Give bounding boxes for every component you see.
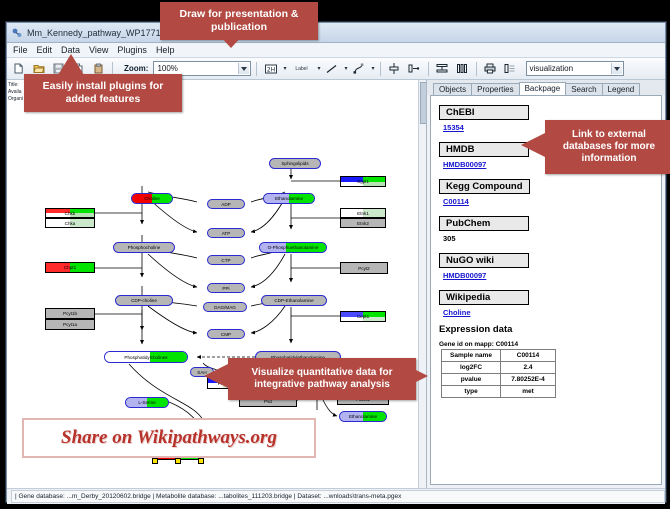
callout-links-text: Link to external databases for more info… — [551, 129, 667, 165]
svg-text:2H: 2H — [267, 66, 275, 73]
statusbar-inner: | Gene database: ...m_Derby_20120602.bri… — [11, 490, 665, 503]
node-label: ADP — [221, 202, 230, 207]
callout-plugins: Easily install plugins for added feature… — [24, 74, 182, 112]
window-titlebar: Mm_Kennedy_pathway_WP1771_45176.gpml — [7, 23, 665, 43]
metabolite-node[interactable]: PPi — [207, 283, 245, 293]
gene-id-line: Gene id on mapp: C00114 — [439, 341, 661, 348]
expression-table: Sample name C00114 log2FC 2.4 pvalue 7.8… — [441, 349, 556, 398]
database-link-kegg[interactable]: C00114 — [443, 197, 661, 206]
expr-key: Sample name — [442, 350, 501, 362]
database-name-nugo: NuGO wiki — [439, 253, 529, 268]
table-row: type met — [442, 386, 556, 398]
gene-node[interactable]: Etnk1 — [340, 208, 386, 218]
menu-help[interactable]: Help — [156, 45, 175, 55]
callout-plugins-arrow-icon — [58, 54, 84, 75]
callout-draw-text: Draw for presentation & publication — [166, 8, 312, 34]
node-label: DAG/MAG — [214, 305, 236, 310]
tab-legend[interactable]: Legend — [602, 83, 641, 95]
node-label: Ethanolamine — [349, 414, 377, 419]
toolbar-separator — [380, 62, 381, 76]
metabolite-node[interactable]: L-Serine — [125, 397, 169, 408]
metabolite-node[interactable]: Choline — [131, 193, 173, 204]
label-button-text: Label — [295, 66, 307, 72]
expr-key: pvalue — [442, 374, 501, 386]
menu-plugins[interactable]: Plugins — [117, 45, 147, 55]
metabolite-node[interactable]: CDP-choline — [115, 295, 173, 306]
tab-search[interactable]: Search — [565, 83, 602, 95]
node-label: CTP — [221, 258, 230, 263]
node-label: Pcyt1a — [63, 322, 77, 327]
side-panel-tabs: Objects Properties Backpage Search Legen… — [427, 80, 665, 95]
expr-value: 7.80252E-4 — [501, 374, 556, 386]
gene-node[interactable]: Pcyt2 — [340, 262, 388, 274]
menu-edit[interactable]: Edit — [37, 45, 53, 55]
node-label: Etnk1 — [357, 211, 369, 216]
expr-value: C00114 — [501, 350, 556, 362]
expr-key: log2FC — [442, 362, 501, 374]
interaction-button[interactable] — [350, 60, 367, 77]
tab-backpage[interactable]: Backpage — [519, 82, 567, 95]
visualization-value: visualization — [530, 64, 574, 73]
label-dropdown-icon[interactable]: ▾ — [317, 65, 320, 72]
database-name-wikipedia: Wikipedia — [439, 290, 529, 305]
node-label: Chka — [65, 221, 76, 226]
gene-node[interactable]: Chka — [45, 218, 95, 228]
stack-button[interactable] — [434, 60, 451, 77]
callout-plugins-text: Easily install plugins for added feature… — [30, 80, 176, 106]
database-group-kegg: Kegg Compound C00114 — [439, 176, 661, 206]
tab-properties[interactable]: Properties — [471, 83, 519, 95]
callout-visualize-text: Visualize quantitative data for integrat… — [234, 367, 410, 391]
gene-node[interactable]: Pcyt1b — [45, 308, 95, 319]
metabolite-node[interactable]: ATP — [207, 228, 245, 238]
toolbar-separator — [476, 62, 477, 76]
database-group-wikipedia: Wikipedia Choline — [439, 287, 661, 317]
scrollbar-thumb[interactable] — [420, 82, 427, 124]
metabolite-node[interactable]: Ethanolamine — [339, 411, 387, 422]
metabolite-node[interactable]: Sphingolipids — [269, 158, 321, 169]
callout-visualize-arrow-icon — [204, 364, 228, 388]
callout-draw-arrow-icon — [218, 34, 244, 48]
gene-node[interactable]: Pcyt1a — [45, 319, 95, 330]
chevron-down-icon[interactable] — [611, 63, 622, 74]
metabolite-node[interactable]: Phosphocholine — [113, 242, 175, 253]
callout-share-text: Share on Wikipathways.org — [61, 427, 277, 449]
database-link-wikipedia[interactable]: Choline — [443, 308, 661, 317]
line-dropdown-icon[interactable]: ▾ — [344, 65, 347, 72]
metabolite-node[interactable]: CTP — [207, 255, 245, 265]
callout-links: Link to external databases for more info… — [545, 120, 670, 174]
node-label: Choline — [144, 196, 160, 201]
gene-node[interactable]: Cept1 — [340, 311, 386, 322]
database-name-kegg: Kegg Compound — [439, 179, 530, 194]
gene-node[interactable]: Etnk2 — [340, 218, 386, 228]
visualization-combo[interactable]: visualization — [526, 61, 624, 76]
node-label: Pcyt2 — [358, 266, 370, 271]
node-label: Pcyt1b — [63, 311, 77, 316]
callout-links-arrow-icon — [521, 133, 545, 157]
node-label: Phosphocholine — [128, 245, 161, 250]
datanode-dropdown-icon[interactable]: ▾ — [283, 65, 286, 72]
node-label: CDP-choline — [131, 298, 157, 303]
gene-node[interactable]: Chpt1 — [45, 262, 95, 273]
node-label: O-Phosphoethanolamine — [268, 245, 319, 250]
node-label: PPi — [222, 286, 229, 291]
distribute-button[interactable] — [454, 60, 471, 77]
node-label: CDP-Ethanolamine — [274, 298, 313, 303]
chevron-down-icon[interactable] — [238, 63, 249, 74]
database-value-pubchem: 305 — [443, 234, 661, 243]
node-label: Ethanolamine — [275, 196, 303, 201]
statusbar-text: | Gene database: ...m_Derby_20120602.bri… — [15, 493, 401, 500]
pathvisio-icon — [11, 27, 23, 39]
node-label: Cept1 — [357, 314, 369, 319]
selection-handle[interactable] — [198, 458, 204, 464]
node-label: Etnk2 — [357, 221, 369, 226]
node-label: L-Serine — [138, 400, 155, 405]
menu-file[interactable]: File — [13, 45, 28, 55]
align-button[interactable] — [386, 60, 403, 77]
gene-node[interactable]: Sgpl1 — [340, 176, 386, 187]
group-button[interactable] — [406, 60, 423, 77]
callout-share: Share on Wikipathways.org — [22, 418, 316, 458]
datanode-button[interactable]: 2H — [262, 60, 279, 77]
line-button[interactable] — [323, 60, 340, 77]
node-label: Sphingolipids — [281, 161, 308, 166]
toolbar-separator — [256, 62, 257, 76]
zoom-label: Zoom: — [124, 64, 148, 73]
database-name-chebi: ChEBI — [439, 105, 529, 120]
metabolite-node[interactable]: Ethanolamine — [263, 193, 315, 204]
metabolite-node[interactable]: CMP — [207, 329, 245, 339]
database-group-pubchem: PubChem 305 — [439, 213, 661, 243]
label-button[interactable]: Label — [289, 60, 313, 77]
statusbar: | Gene database: ...m_Derby_20120602.bri… — [7, 488, 665, 504]
canvas-vertical-scrollbar[interactable] — [418, 80, 426, 488]
expr-key: type — [442, 386, 501, 398]
node-label: Phosphatidylcholines — [124, 355, 167, 360]
table-row: Sample name C00114 — [442, 350, 556, 362]
node-label: Chkb — [65, 211, 76, 216]
callout-visualize: Visualize quantitative data for integrat… — [228, 358, 416, 400]
node-label: Sgpl1 — [357, 179, 369, 184]
callout-visualize-arrow-right-icon — [404, 364, 428, 388]
table-row: log2FC 2.4 — [442, 362, 556, 374]
node-label: Chpt1 — [64, 265, 76, 270]
database-name-hmdb: HMDB — [439, 142, 529, 157]
zoom-value: 100% — [157, 64, 177, 73]
metabolite-node[interactable]: Phosphatidylcholines — [104, 351, 188, 363]
menubar: File Edit Data View Plugins Help — [7, 43, 665, 58]
interaction-dropdown-icon[interactable]: ▾ — [371, 65, 374, 72]
toolbar-separator — [428, 62, 429, 76]
expr-value: 2.4 — [501, 362, 556, 374]
database-link-nugo[interactable]: HMDB00097 — [443, 271, 661, 280]
database-group-nugo: NuGO wiki HMDB00097 — [439, 250, 661, 280]
menu-view[interactable]: View — [89, 45, 108, 55]
metabolite-node[interactable]: ADP — [207, 199, 245, 209]
metabolite-node[interactable]: O-Phosphoethanolamine — [259, 242, 327, 253]
expr-value: met — [501, 386, 556, 398]
table-row: pvalue 7.80252E-4 — [442, 374, 556, 386]
node-label: CMP — [221, 332, 231, 337]
selection-handle[interactable] — [175, 458, 181, 464]
print-button[interactable] — [482, 60, 499, 77]
metabolite-node[interactable]: DAG/MAG — [203, 302, 247, 312]
screenshot-root: Mm_Kennedy_pathway_WP1771_45176.gpml Fil… — [0, 0, 670, 509]
gene-node[interactable]: Chkb — [45, 208, 95, 218]
expression-data-heading: Expression data — [439, 324, 661, 335]
node-label: ATP — [222, 231, 231, 236]
legend-button[interactable] — [502, 60, 519, 77]
metabolite-node[interactable]: CDP-Ethanolamine — [261, 295, 327, 306]
selection-handle[interactable] — [152, 458, 158, 464]
database-name-pubchem: PubChem — [439, 216, 529, 231]
tab-objects[interactable]: Objects — [433, 83, 472, 95]
